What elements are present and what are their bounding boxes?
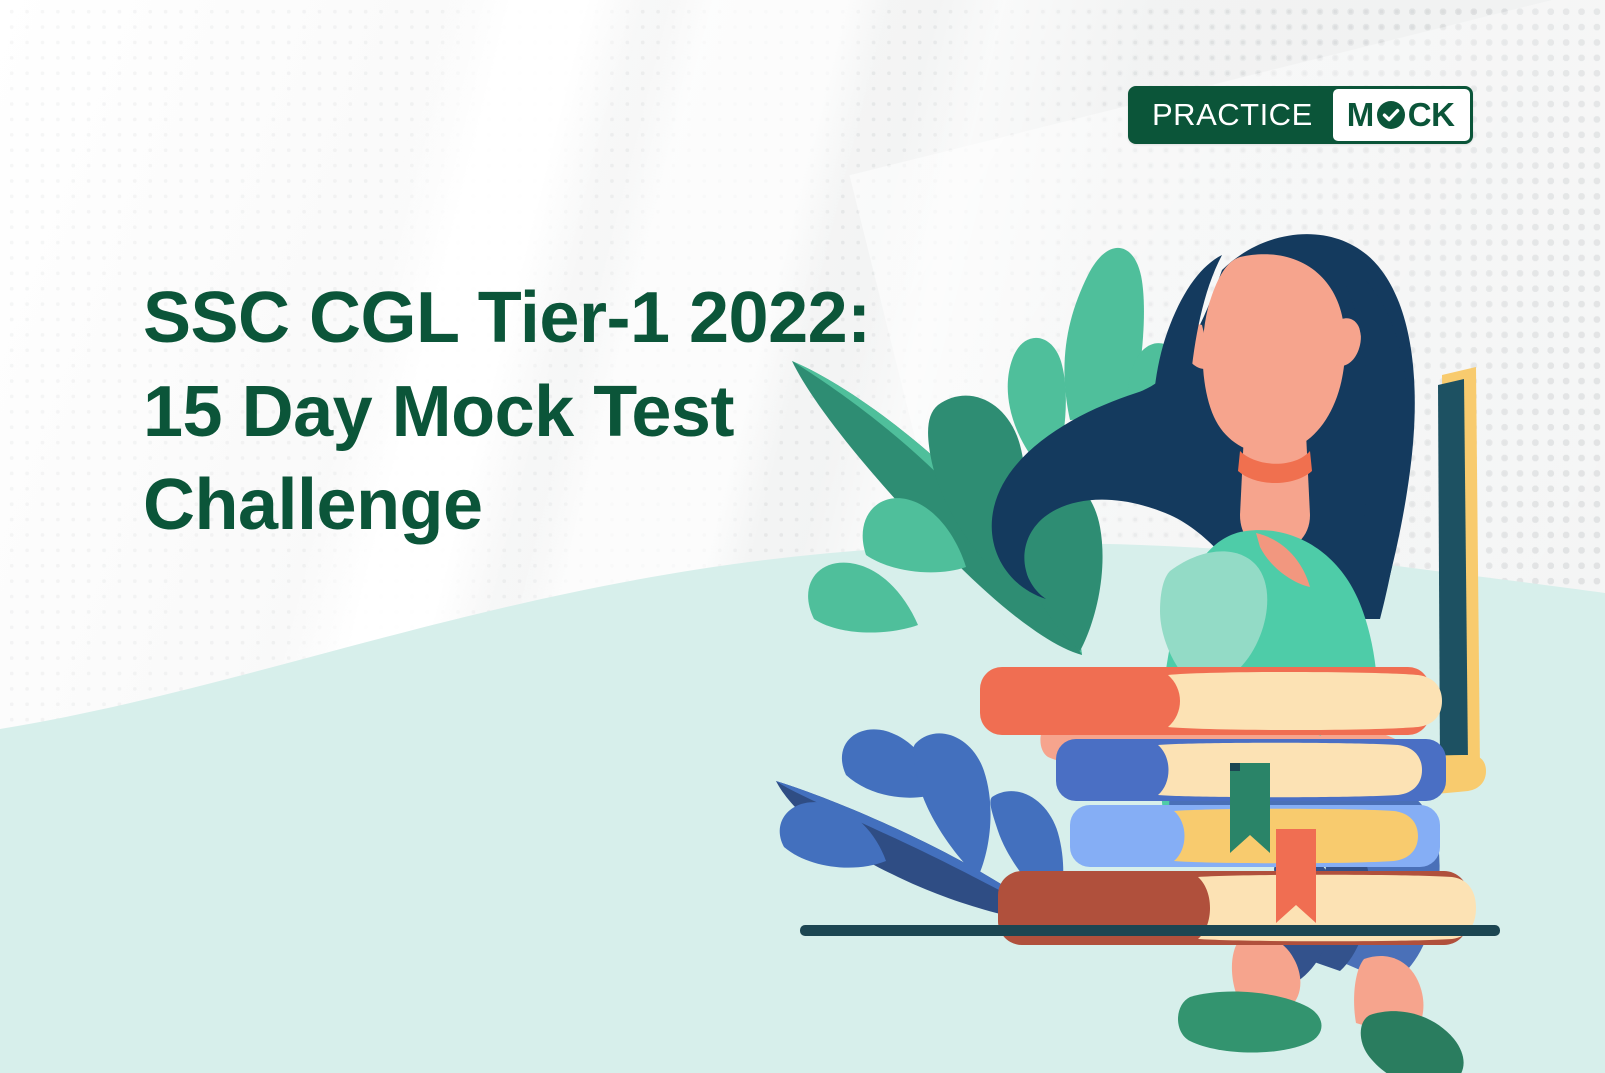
- logo-letters-ck: CK: [1408, 96, 1455, 134]
- logo-word-mock: M CK: [1333, 89, 1471, 141]
- logo-letter-m: M: [1347, 96, 1374, 134]
- book-coral-pages: [1168, 672, 1442, 730]
- logo-word-practice: PRACTICE: [1128, 86, 1333, 144]
- bookmark-green-tip: [1230, 763, 1240, 771]
- illustration-woman-studying: [770, 215, 1530, 925]
- laptop-screen: [1438, 379, 1468, 767]
- book-stack: [980, 667, 1476, 945]
- book-coral: [980, 667, 1442, 735]
- book-blue-pages: [1158, 743, 1422, 798]
- check-mark-in-circle-icon: [1376, 100, 1406, 130]
- promo-banner: SSC CGL Tier-1 2022: 15 Day Mock Test Ch…: [0, 0, 1605, 1073]
- practicemock-logo[interactable]: PRACTICE M CK: [1128, 86, 1473, 144]
- ground-line: [800, 925, 1500, 936]
